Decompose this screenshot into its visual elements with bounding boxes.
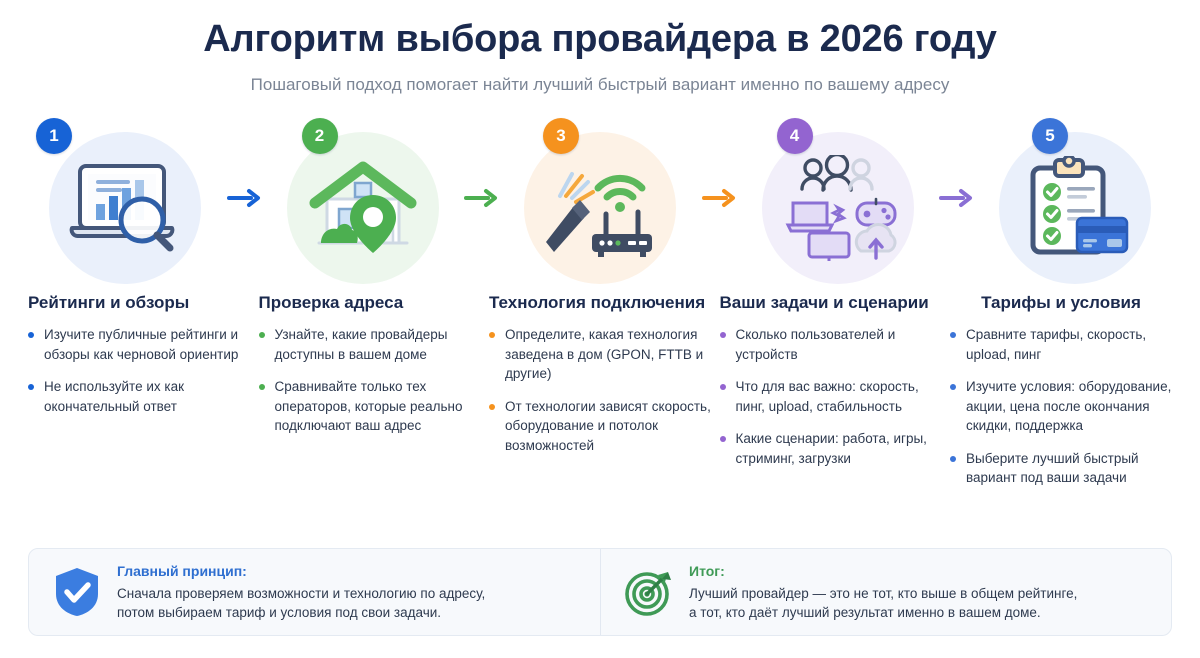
column-3-bullets: Определите, какая технология заведена в … bbox=[489, 325, 711, 455]
list-item: Какие сценарии: работа, игры, стриминг, … bbox=[720, 429, 942, 468]
page-subtitle: Пошаговый подход помогает найти лучший б… bbox=[24, 74, 1176, 96]
step-5: 5 bbox=[978, 118, 1172, 284]
footer-principle-label: Главный принцип: bbox=[117, 563, 578, 580]
list-item-text: Сравнивайте только тех операторов, котор… bbox=[275, 379, 463, 433]
steps-row: 1 bbox=[24, 118, 1176, 284]
list-item-text: Изучите публичные рейтинги и обзоры как … bbox=[44, 327, 238, 362]
footer-result-label: Итог: bbox=[689, 563, 1149, 580]
step-2-illustration bbox=[287, 132, 439, 284]
arrow-step-4-to-5 bbox=[936, 118, 976, 278]
list-item: Сравните тарифы, скорость, upload, пинг bbox=[950, 325, 1172, 364]
infographic-page: Алгоритм выбора провайдера в 2026 году П… bbox=[0, 0, 1200, 658]
arrow-step-1-to-2 bbox=[224, 118, 264, 278]
column-5-heading: Тарифы и условия bbox=[950, 292, 1172, 313]
bullet-dot bbox=[950, 332, 956, 338]
bullet-dot bbox=[720, 384, 726, 390]
column-4-bullets: Сколько пользователей и устройств Что дл… bbox=[720, 325, 942, 468]
step-3: 3 bbox=[503, 118, 697, 284]
list-item: Сравнивайте только тех операторов, котор… bbox=[259, 377, 481, 436]
bullet-dot bbox=[28, 332, 34, 338]
bullet-dot bbox=[720, 332, 726, 338]
step-4: 4 bbox=[741, 118, 935, 284]
footer-principle: Главный принцип: Сначала проверяем возмо… bbox=[29, 549, 600, 635]
list-item-text: Определите, какая технология заведена в … bbox=[505, 327, 703, 381]
step-1: 1 bbox=[28, 118, 222, 284]
column-2-bullets: Узнайте, какие провайдеры доступны в ваш… bbox=[259, 325, 481, 436]
column-2-heading: Проверка адреса bbox=[259, 292, 481, 313]
list-item: Определите, какая технология заведена в … bbox=[489, 325, 711, 384]
footer-principle-body: Сначала проверяем возможности и технолог… bbox=[117, 584, 578, 622]
step-3-illustration bbox=[524, 132, 676, 284]
footer-panel: Главный принцип: Сначала проверяем возмо… bbox=[28, 548, 1172, 636]
columns-row: Рейтинги и обзоры Изучите публичные рейт… bbox=[24, 292, 1176, 488]
fiber-cable-router-wifi-icon bbox=[538, 156, 662, 260]
list-item-text: Какие сценарии: работа, игры, стриминг, … bbox=[736, 431, 927, 466]
step-5-badge: 5 bbox=[1032, 118, 1068, 154]
step-1-illustration bbox=[49, 132, 201, 284]
bullet-dot bbox=[489, 404, 495, 410]
column-1-bullets: Изучите публичные рейтинги и обзоры как … bbox=[28, 325, 250, 416]
list-item-text: От технологии зависят скорость, оборудов… bbox=[505, 399, 711, 453]
column-5-bullets: Сравните тарифы, скорость, upload, пинг … bbox=[950, 325, 1172, 488]
list-item-text: Не используйте их как окончательный отве… bbox=[44, 379, 184, 414]
target-arrow-icon bbox=[623, 566, 675, 618]
column-1: Рейтинги и обзоры Изучите публичные рейт… bbox=[28, 292, 250, 488]
footer-result-text: Итог: Лучший провайдер — это не тот, кто… bbox=[689, 563, 1149, 622]
arrow-step-2-to-3 bbox=[461, 118, 501, 278]
shield-check-icon bbox=[51, 566, 103, 618]
list-item-text: Сравните тарифы, скорость, upload, пинг bbox=[966, 327, 1146, 362]
bullet-dot bbox=[489, 332, 495, 338]
list-item-text: Что для вас важно: скорость, пинг, uploa… bbox=[736, 379, 919, 414]
column-5: Тарифы и условия Сравните тарифы, скорос… bbox=[950, 292, 1172, 488]
list-item: Узнайте, какие провайдеры доступны в ваш… bbox=[259, 325, 481, 364]
column-3: Технология подключения Определите, какая… bbox=[489, 292, 711, 488]
page-title: Алгоритм выбора провайдера в 2026 году bbox=[24, 16, 1176, 62]
list-item: Выберите лучший быстрый вариант под ваши… bbox=[950, 449, 1172, 488]
step-1-badge: 1 bbox=[36, 118, 72, 154]
bullet-dot bbox=[259, 384, 265, 390]
house-map-pin-icon bbox=[305, 157, 421, 259]
column-4: Ваши задачи и сценарии Сколько пользоват… bbox=[720, 292, 942, 488]
column-1-heading: Рейтинги и обзоры bbox=[28, 292, 250, 313]
column-3-heading: Технология подключения bbox=[489, 292, 711, 313]
list-item: От технологии зависят скорость, оборудов… bbox=[489, 397, 711, 456]
footer-result-line-1: Лучший провайдер — это не тот, кто выше … bbox=[689, 584, 1149, 603]
column-4-heading: Ваши задачи и сценарии bbox=[720, 292, 942, 313]
footer-result: Итог: Лучший провайдер — это не тот, кто… bbox=[600, 549, 1171, 635]
column-2: Проверка адреса Узнайте, какие провайдер… bbox=[259, 292, 481, 488]
list-item-text: Сколько пользователей и устройств bbox=[736, 327, 896, 362]
step-4-illustration bbox=[762, 132, 914, 284]
people-devices-icon bbox=[777, 155, 899, 261]
clipboard-checklist-card-icon bbox=[1019, 156, 1131, 260]
bullet-dot bbox=[950, 384, 956, 390]
bullet-dot bbox=[28, 384, 34, 390]
list-item: Изучите публичные рейтинги и обзоры как … bbox=[28, 325, 250, 364]
list-item-text: Изучите условия: оборудование, акции, це… bbox=[966, 379, 1171, 433]
list-item: Сколько пользователей и устройств bbox=[720, 325, 942, 364]
step-3-badge: 3 bbox=[543, 118, 579, 154]
arrow-step-3-to-4 bbox=[699, 118, 739, 278]
bullet-dot bbox=[720, 436, 726, 442]
step-4-badge: 4 bbox=[777, 118, 813, 154]
list-item: Что для вас важно: скорость, пинг, uploa… bbox=[720, 377, 942, 416]
footer-principle-text: Главный принцип: Сначала проверяем возмо… bbox=[117, 563, 578, 622]
footer-result-body: Лучший провайдер — это не тот, кто выше … bbox=[689, 584, 1149, 622]
list-item: Изучите условия: оборудование, акции, це… bbox=[950, 377, 1172, 436]
footer-principle-line-2: потом выбираем тариф и условия под свои … bbox=[117, 603, 578, 622]
list-item-text: Узнайте, какие провайдеры доступны в ваш… bbox=[275, 327, 448, 362]
laptop-chart-magnifier-icon bbox=[66, 158, 184, 258]
step-2: 2 bbox=[266, 118, 460, 284]
step-5-illustration bbox=[999, 132, 1151, 284]
bullet-dot bbox=[259, 332, 265, 338]
footer-result-line-2: а тот, кто даёт лучший результат именно … bbox=[689, 603, 1149, 622]
list-item: Не используйте их как окончательный отве… bbox=[28, 377, 250, 416]
list-item-text: Выберите лучший быстрый вариант под ваши… bbox=[966, 451, 1139, 486]
footer-principle-line-1: Сначала проверяем возможности и технолог… bbox=[117, 584, 578, 603]
header: Алгоритм выбора провайдера в 2026 году П… bbox=[24, 0, 1176, 96]
step-2-badge: 2 bbox=[302, 118, 338, 154]
bullet-dot bbox=[950, 456, 956, 462]
